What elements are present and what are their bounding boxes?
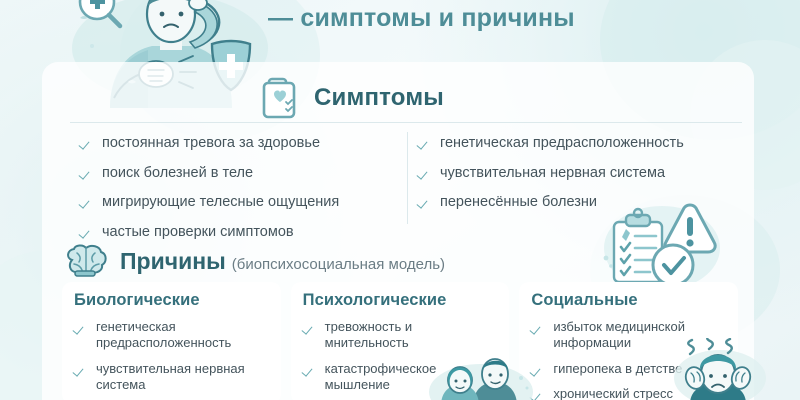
infographic-root: — симптомы и причины Симптомы постоянная… <box>0 0 800 400</box>
list-item: генетическая предрасположенность <box>418 134 738 153</box>
cause-card-psychological: Психологические тревожность и мнительнос… <box>291 282 510 400</box>
symptoms-column-divider <box>407 132 408 224</box>
list-item: частые проверки симптомов <box>80 223 400 242</box>
list-item: катастрофическое мышление <box>303 361 498 394</box>
symptoms-divider <box>70 122 742 123</box>
list-item-label: генетическая предрасположенность <box>440 134 684 153</box>
list-item-label: постоянная тревога за здоровье <box>102 134 320 153</box>
list-item-label: избыток медицинской информации <box>553 319 726 352</box>
symptoms-section-header: Симптомы <box>262 76 444 120</box>
check-icon <box>418 167 431 180</box>
list-item-label: чувствительная нервная система <box>440 164 665 183</box>
list-item: генетическая предрасположенность <box>74 319 269 352</box>
causes-title: Причины <box>120 248 226 274</box>
symptoms-title: Симптомы <box>314 84 444 112</box>
cause-card-social: Социальные избыток медицинской информаци… <box>519 282 738 400</box>
cause-card-biological: Биологические генетическая предрасположе… <box>62 282 281 400</box>
symptoms-right-column: генетическая предрасположенность чувстви… <box>418 134 738 223</box>
causes-subtitle: (биопсихосоциальная модель) <box>232 256 445 273</box>
check-icon <box>80 167 93 180</box>
list-item-label: хронический стресс <box>553 386 673 400</box>
cause-card-title: Биологические <box>74 291 269 310</box>
causes-section-header: Причины(биопсихосоциальная модель) <box>64 244 445 278</box>
check-icon <box>74 364 87 377</box>
check-icon <box>531 322 544 335</box>
check-icon <box>80 137 93 150</box>
cause-card-title: Социальные <box>531 291 726 310</box>
list-item-label: генетическая предрасположенность <box>96 319 269 352</box>
check-icon <box>303 364 316 377</box>
list-item: хронический стресс <box>531 386 726 400</box>
list-item: избыток медицинской информации <box>531 319 726 352</box>
check-icon <box>80 196 93 209</box>
list-item: перенесённые болезни <box>418 193 738 212</box>
list-item-label: чувствительная нервная система <box>96 361 269 394</box>
check-icon <box>531 364 544 377</box>
check-icon <box>418 196 431 209</box>
list-item-label: перенесённые болезни <box>440 193 597 212</box>
check-icon <box>418 137 431 150</box>
list-item-label: частые проверки симптомов <box>102 223 294 242</box>
list-item: тревожность и мнительность <box>303 319 498 352</box>
brain-icon <box>64 244 108 278</box>
page-title: — симптомы и причины <box>268 4 575 33</box>
check-icon <box>74 322 87 335</box>
check-icon <box>80 226 93 239</box>
cause-card-title: Психологические <box>303 291 498 310</box>
clipboard-heart-icon <box>262 76 302 120</box>
check-icon <box>303 322 316 335</box>
list-item: чувствительная нервная система <box>74 361 269 394</box>
list-item: мигрирующие телесные ощущения <box>80 193 400 212</box>
list-item-label: поиск болезней в теле <box>102 164 253 183</box>
list-item: чувствительная нервная система <box>418 164 738 183</box>
list-item: гиперопека в детстве <box>531 361 726 377</box>
list-item-label: мигрирующие телесные ощущения <box>102 193 339 212</box>
check-icon <box>531 389 544 400</box>
causes-card-group: Биологические генетическая предрасположе… <box>62 282 738 400</box>
symptoms-left-column: постоянная тревога за здоровье поиск бол… <box>80 134 400 252</box>
list-item: постоянная тревога за здоровье <box>80 134 400 153</box>
list-item-label: гиперопека в детстве <box>553 361 682 377</box>
list-item-label: катастрофическое мышление <box>325 361 498 394</box>
list-item-label: тревожность и мнительность <box>325 319 498 352</box>
list-item: поиск болезней в теле <box>80 164 400 183</box>
